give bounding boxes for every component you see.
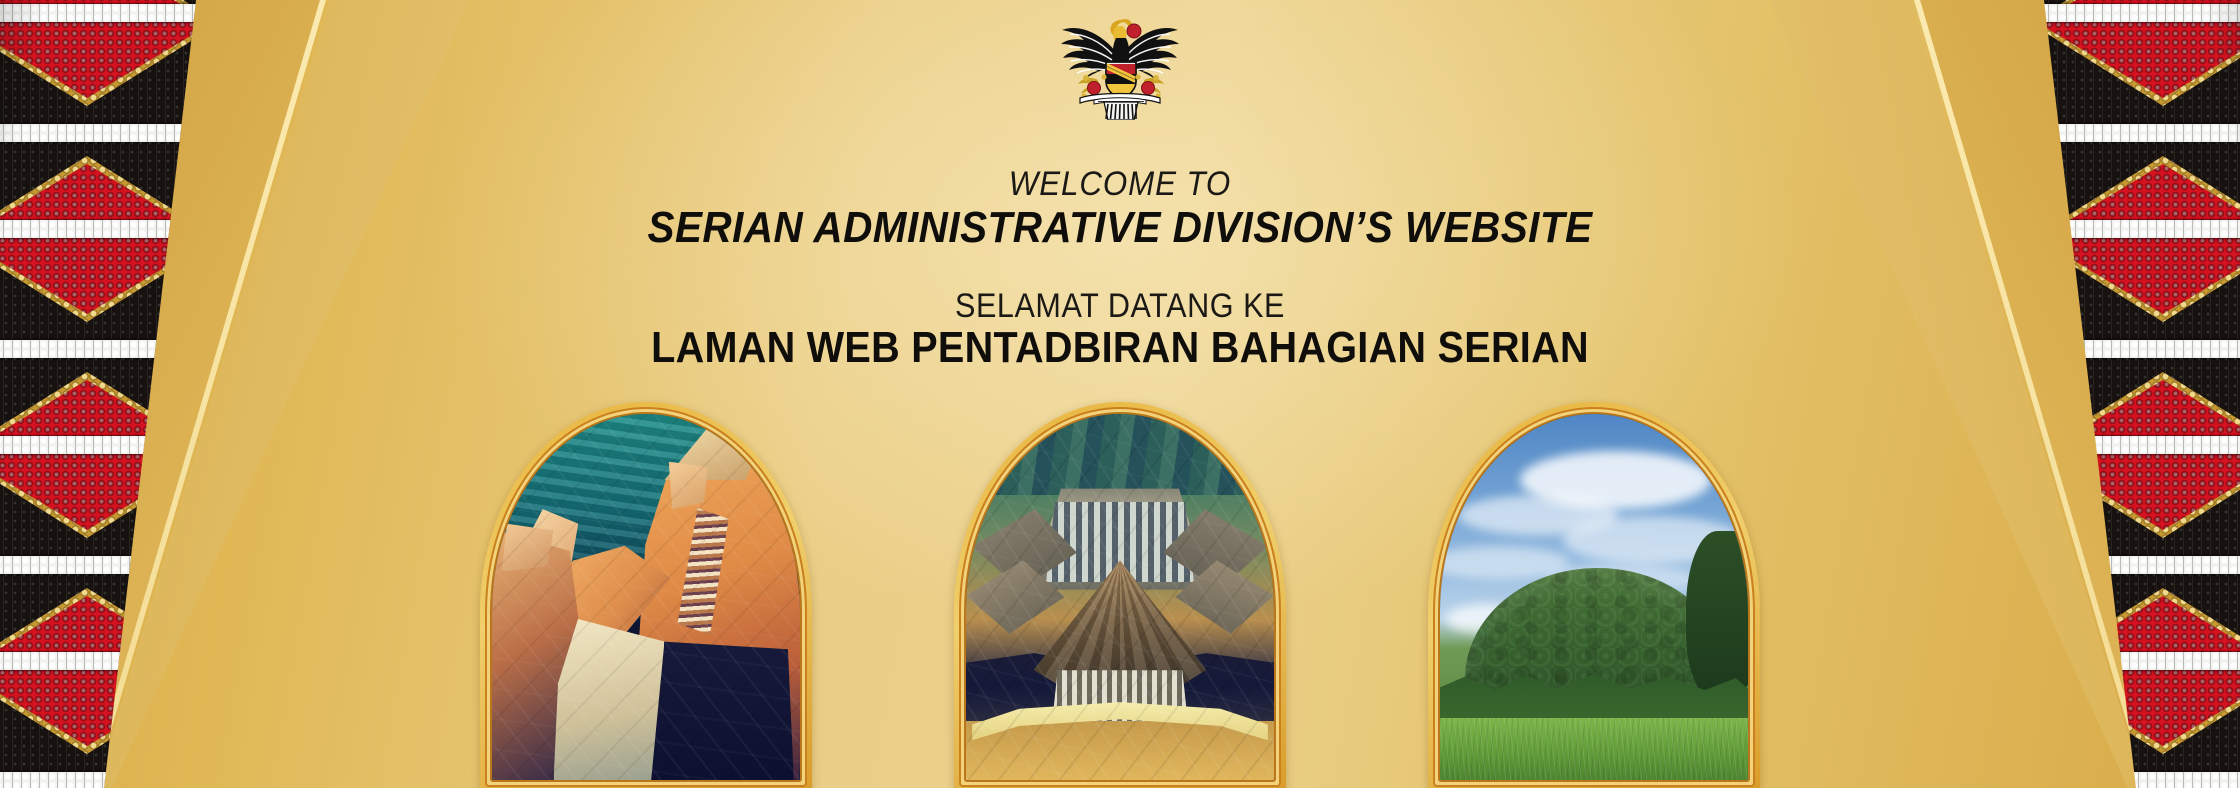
image-hill-landscape xyxy=(1440,414,1748,780)
image-administrative-building xyxy=(966,414,1274,780)
arch-frame-hill-landscape[interactable] xyxy=(1428,402,1760,788)
image-traditional-dancers xyxy=(492,414,800,780)
arch-frame-mid-border xyxy=(1433,407,1755,787)
arch-frame-inner-border xyxy=(1438,412,1750,782)
page-title-en: SERIAN ADMINISTRATIVE DIVISION’S WEBSITE xyxy=(90,203,2151,253)
page-title-ms: LAMAN WEB PENTADBIRAN BAHAGIAN SERIAN xyxy=(112,323,2128,373)
welcome-banner: WELCOME TO SERIAN ADMINISTRATIVE DIVISIO… xyxy=(0,0,2240,788)
arch-frame-mid-border xyxy=(959,407,1281,787)
arch-frame-mid-border xyxy=(485,407,807,787)
arch-frame-inner-border xyxy=(490,412,802,782)
welcome-line-ms: SELAMAT DATANG KE xyxy=(112,287,2128,326)
arch-frame-inner-border xyxy=(964,412,1276,782)
welcome-line-en: WELCOME TO xyxy=(90,165,2151,204)
sarawak-coat-of-arms-icon xyxy=(1050,8,1190,120)
arch-frame-traditional-dancers[interactable] xyxy=(480,402,812,788)
arch-frame-administrative-building[interactable] xyxy=(954,402,1286,788)
